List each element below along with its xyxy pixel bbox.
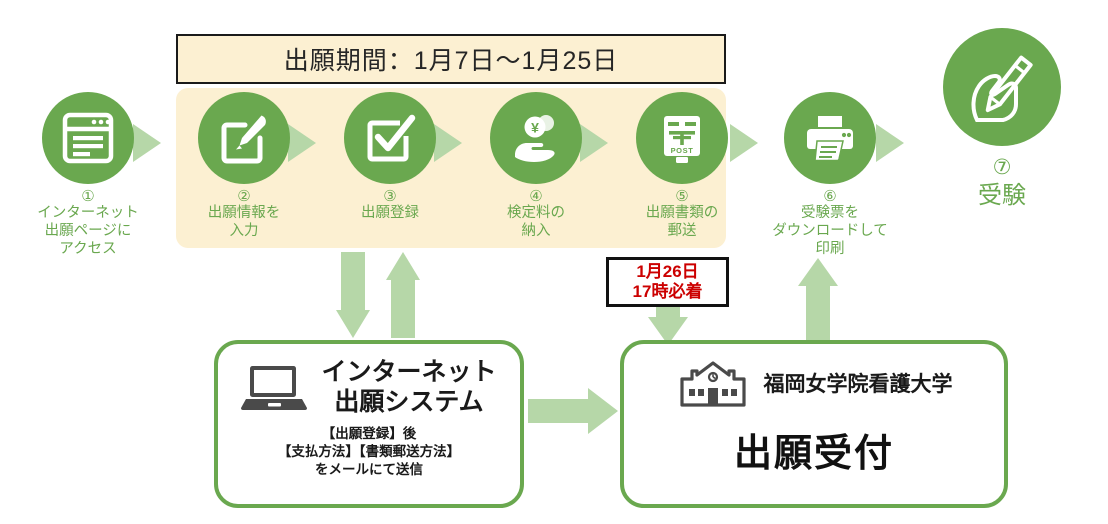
step-1-internet-page[interactable]: ① インターネット 出願ページに アクセス: [24, 92, 152, 258]
arrow-up-from-university-icon: [798, 258, 838, 344]
deadline-notice: 1月26日 17時必着: [606, 257, 729, 307]
system-card-header: インターネット 出願システム: [218, 358, 520, 417]
step-2-label: 出願情報を 入力: [180, 205, 308, 240]
university-card-heading: 出願受付: [624, 422, 1004, 477]
university-card-header: 福岡女学院看護大学: [624, 360, 1004, 410]
system-card-subtext: 【出願登録】後 【支払方法】【書類郵送方法】 をメールにて送信: [218, 425, 520, 480]
step-2-number: ②: [180, 188, 308, 205]
application-flow-diagram: 出願期間：1月7日～1月25日 ① インターネット 出願ページに アクセス: [0, 0, 1108, 524]
university-reception-card[interactable]: 福岡女学院看護大学 出願受付: [620, 340, 1008, 508]
application-period-banner: 出願期間：1月7日～1月25日: [176, 34, 726, 84]
step-4-number: ④: [472, 188, 600, 205]
step-1-icon-disc: [42, 92, 134, 184]
step-5-number: ⑤: [618, 188, 746, 205]
system-card-title: インターネット 出願システム: [321, 358, 496, 417]
step-7-number: ⑦: [922, 156, 1082, 180]
step-4-payment[interactable]: ¥ ④ 検定料の 納入: [472, 92, 600, 241]
arrow-up-from-system-icon: [386, 252, 420, 338]
arrow-down-to-university-icon: [648, 305, 688, 345]
printer-icon: [802, 110, 858, 166]
arrow-system-to-university-icon: [528, 388, 618, 434]
step-6-number: ⑥: [766, 188, 894, 205]
internet-application-system-card[interactable]: インターネット 出願システム 【出願登録】後 【支払方法】【書類郵送方法】 をメ…: [214, 340, 524, 508]
step-6-print-ticket[interactable]: ⑥ 受験票を ダウンロードして 印刷: [766, 92, 894, 258]
deadline-date: 1月26日: [636, 262, 698, 282]
hand-writing-pencil-icon: [959, 44, 1045, 130]
step-2-icon-disc: [198, 92, 290, 184]
step-4-label: 検定料の 納入: [472, 205, 600, 240]
university-name: 福岡女学院看護大学: [764, 373, 953, 398]
svg-text:POST: POST: [671, 146, 694, 155]
step-6-icon-disc: [784, 92, 876, 184]
step-4-icon-disc: ¥: [490, 92, 582, 184]
school-building-icon: [676, 360, 750, 410]
step-6-label: 受験票を ダウンロードして 印刷: [766, 205, 894, 258]
step-3-label: 出願登録: [326, 205, 454, 223]
step-1-label: インターネット 出願ページに アクセス: [24, 205, 152, 258]
arrow-down-to-system-icon: [336, 252, 370, 338]
step-5-icon-disc: POST: [636, 92, 728, 184]
step-5-label: 出願書類の 郵送: [618, 205, 746, 240]
svg-text:¥: ¥: [531, 120, 539, 136]
step-3-icon-disc: [344, 92, 436, 184]
laptop-icon: [241, 363, 307, 413]
step-7-icon-disc: [943, 28, 1061, 146]
step-5-mail-documents[interactable]: POST ⑤ 出願書類の 郵送: [618, 92, 746, 241]
deadline-time: 17時必着: [633, 282, 703, 302]
step-3-number: ③: [326, 188, 454, 205]
japan-postbox-icon: POST: [654, 110, 710, 166]
step-7-label: 受験: [922, 182, 1082, 211]
browser-window-icon: [60, 110, 116, 166]
step-3-registration[interactable]: ③ 出願登録: [326, 92, 454, 223]
step-7-exam[interactable]: ⑦ 受験: [922, 28, 1082, 211]
step-2-enter-info[interactable]: ② 出願情報を 入力: [180, 92, 308, 241]
edit-pen-square-icon: [216, 110, 272, 166]
hand-yen-coin-icon: ¥: [508, 110, 564, 166]
checkbox-check-icon: [362, 110, 418, 166]
step-1-number: ①: [24, 188, 152, 205]
application-period-text: 出願期間：1月7日～1月25日: [284, 41, 619, 77]
